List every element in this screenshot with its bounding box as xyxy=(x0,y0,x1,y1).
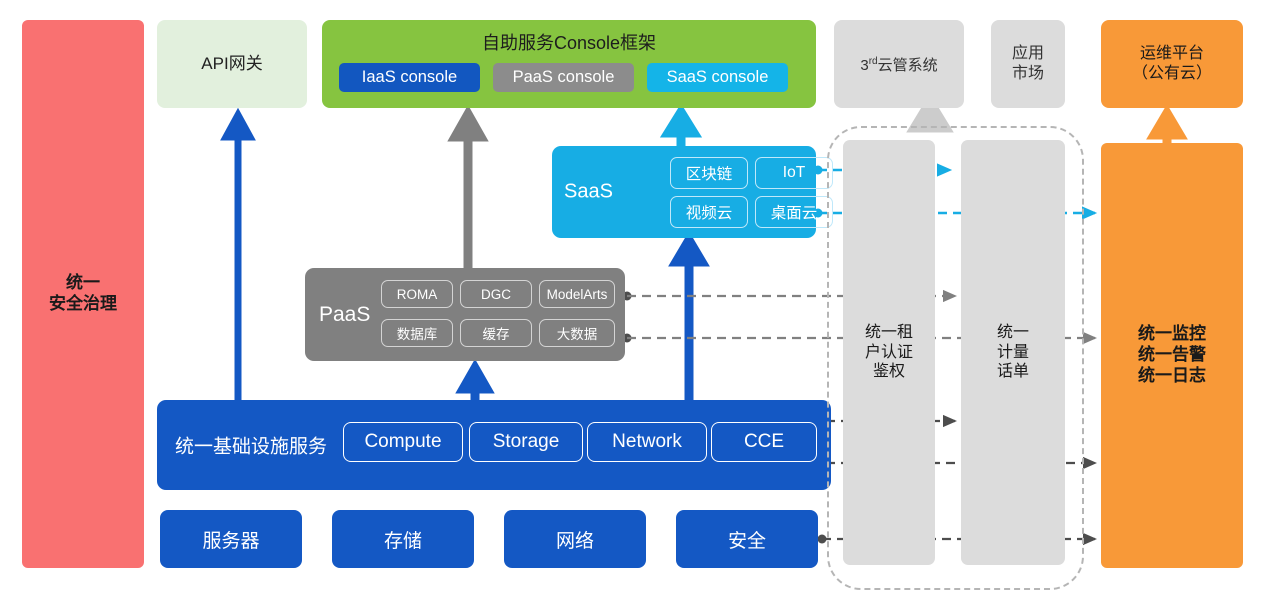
paas-service-roma[interactable]: ROMA xyxy=(381,280,453,308)
shared-service-tenant-auth-label: 统一租 户认证 鉴权 xyxy=(865,323,913,382)
arrow-saas-to-saas-console xyxy=(668,112,694,146)
resource-box-security[interactable]: 安全 xyxy=(676,510,818,568)
arrow-to-ops-platform xyxy=(1154,113,1180,143)
unified-infrastructure-title: 统一基础设施服务 xyxy=(175,432,327,459)
security-governance-label: 统一 安全治理 xyxy=(49,273,117,314)
arrow-paas-to-console xyxy=(455,114,481,268)
api-gateway-box: API网关 xyxy=(157,20,307,108)
saas-layer-title: SaaS xyxy=(564,181,613,204)
paas-layer-title: PaaS xyxy=(319,303,370,327)
saas-service-iot[interactable]: IoT xyxy=(755,157,833,189)
security-governance-panel: 统一 安全治理 xyxy=(22,20,144,568)
resource-box-network[interactable]: 网络 xyxy=(504,510,646,568)
shared-service-metering-billing: 统一 计量 话单 xyxy=(961,140,1065,565)
third-party-cloud-management-box: 3rd云管系统 xyxy=(834,20,964,108)
app-market-label: 应用 市场 xyxy=(1012,44,1044,83)
resource-box-storage[interactable]: 存储 xyxy=(332,510,474,568)
paas-layer-block: PaaS ROMA DGC ModelArts 数据库 缓存 大数据 xyxy=(305,268,625,361)
infra-service-storage[interactable]: Storage xyxy=(469,422,583,462)
unified-infrastructure-bar: 统一基础设施服务 Compute Storage Network CCE xyxy=(157,400,831,490)
third-party-cloud-label: 3rd云管系统 xyxy=(860,54,937,75)
paas-service-bigdata[interactable]: 大数据 xyxy=(539,319,615,347)
paas-service-cache[interactable]: 缓存 xyxy=(460,319,532,347)
paas-service-dgc[interactable]: DGC xyxy=(460,280,532,308)
shared-service-metering-billing-label: 统一 计量 话单 xyxy=(997,323,1029,382)
api-gateway-label: API网关 xyxy=(201,54,262,75)
saas-layer-block: SaaS 区块链 IoT 视频云 桌面云 xyxy=(552,146,816,238)
shared-service-tenant-auth: 统一租 户认证 鉴权 xyxy=(843,140,935,565)
infra-service-compute[interactable]: Compute xyxy=(343,422,463,462)
paas-console-chip[interactable]: PaaS console xyxy=(493,63,634,92)
ops-platform-box: 运维平台 （公有云） xyxy=(1101,20,1243,108)
saas-service-video-cloud[interactable]: 视频云 xyxy=(670,196,748,228)
app-market-box: 应用 市场 xyxy=(991,20,1065,108)
ops-monitoring-column: 统一监控 统一告警 统一日志 xyxy=(1101,143,1243,568)
saas-console-chip[interactable]: SaaS console xyxy=(647,63,788,92)
ops-monitoring-label: 统一监控 统一告警 统一日志 xyxy=(1138,324,1206,386)
infra-service-cce[interactable]: CCE xyxy=(711,422,817,462)
arrow-infra-to-paas xyxy=(463,368,487,400)
infra-service-network[interactable]: Network xyxy=(587,422,707,462)
architecture-diagram: 统一 安全治理 API网关 自助服务Console框架 IaaS console… xyxy=(0,0,1265,605)
ops-platform-label: 运维平台 （公有云） xyxy=(1132,44,1212,83)
console-framework-title: 自助服务Console框架 xyxy=(322,29,816,55)
arrow-infra-to-saas xyxy=(676,240,702,400)
resource-box-server[interactable]: 服务器 xyxy=(160,510,302,568)
console-framework-panel: 自助服务Console框架 IaaS console PaaS console … xyxy=(322,20,816,108)
arrow-infra-to-api-gateway xyxy=(226,115,250,400)
paas-service-modelarts[interactable]: ModelArts xyxy=(539,280,615,308)
saas-service-desktop-cloud[interactable]: 桌面云 xyxy=(755,196,833,228)
saas-service-blockchain[interactable]: 区块链 xyxy=(670,157,748,189)
iaas-console-chip[interactable]: IaaS console xyxy=(339,63,480,92)
paas-service-database[interactable]: 数据库 xyxy=(381,319,453,347)
